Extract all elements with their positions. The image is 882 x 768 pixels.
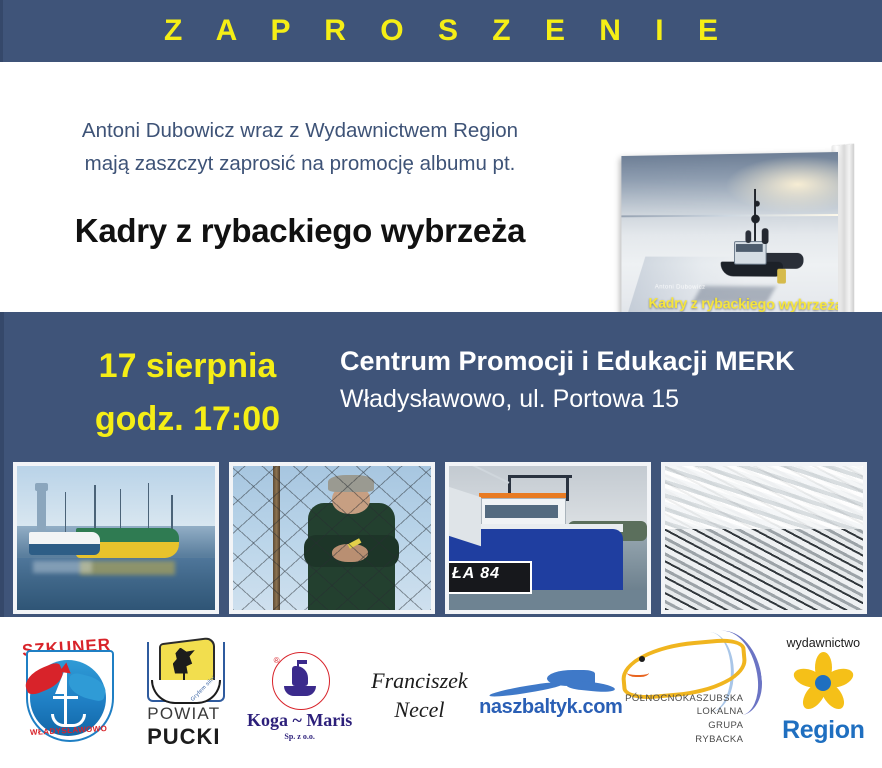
- necel-line-1: Franciszek: [356, 666, 482, 696]
- logo-franciszek-necel[interactable]: Franciszek Necel: [356, 634, 479, 752]
- cover-author: Antoni Dubowicz: [655, 283, 706, 290]
- event-details-section: 17 sierpnia godz. 17:00 Centrum Promocji…: [0, 312, 882, 617]
- cutter-registration-text: ŁA 84: [452, 565, 500, 583]
- cover-title: Kadry z rybackiego wybrzeża: [648, 295, 813, 314]
- flower-center-icon: [815, 675, 831, 691]
- event-date: 17 sierpnia: [55, 340, 320, 393]
- intro-line-2: mają zaszczyt zaprosić na promocję album…: [30, 147, 570, 180]
- cutter-registration-plate: ŁA 84: [445, 561, 532, 594]
- koga-hull: [284, 686, 316, 696]
- intro-text: Antoni Dubowicz wraz z Wydawnictwem Regi…: [30, 114, 570, 180]
- region-line-2: Region: [761, 716, 882, 745]
- necel-line-2: Necel: [356, 695, 482, 725]
- event-venue-block: Centrum Promocji i Edukacji MERK Władysł…: [340, 342, 795, 417]
- logo-szkuner[interactable]: SZKUNER WŁADYSŁAWOWO: [8, 634, 125, 752]
- region-line-1: wydawnictwo: [761, 636, 882, 650]
- plgr-line-4: RYBACKA: [615, 733, 743, 747]
- koga-registered-mark: ®: [274, 656, 280, 665]
- boat-rig-lower: [751, 214, 760, 223]
- koga-line-2: Sp. z o.o.: [240, 732, 360, 741]
- harbour-mast-3: [120, 489, 122, 534]
- harbour-sky: [17, 466, 215, 526]
- plgr-line-2: LOKALNA: [615, 705, 743, 719]
- pucki-line-1: POWIAT: [139, 704, 229, 724]
- info-left-edge: [0, 312, 4, 617]
- sponsor-logo-bar: SZKUNER WŁADYSŁAWOWO Gryfem silni POWIAT…: [0, 617, 882, 768]
- venue-name: Centrum Promocji i Edukacji MERK: [340, 342, 795, 381]
- event-time: godz. 17:00: [55, 393, 320, 446]
- ice-texture: [665, 466, 863, 529]
- cutter-cabin-windows: [485, 505, 558, 518]
- harbour-white-boat-hull: [29, 544, 100, 556]
- naszbaltyk-wave-icon: [489, 668, 613, 696]
- album-title: Kadry z rybackiego wybrzeża: [30, 212, 570, 250]
- plgr-line-1: PÓŁNOCNOKASZUBSKA: [615, 692, 743, 706]
- photo-fisherman-net: [229, 462, 435, 614]
- photo-harbour-boats: [13, 462, 219, 614]
- harbour-yellow-reflection: [80, 561, 175, 575]
- necel-text: Franciszek Necel: [356, 666, 482, 725]
- photo-fish-catch: [661, 462, 867, 614]
- plgr-line-3: GRUPA: [615, 719, 743, 733]
- plgr-fish-eye-icon: [639, 656, 645, 662]
- szkuner-anchor-icon: [64, 692, 67, 724]
- header-band: Z A P R O S Z E N I E: [0, 0, 882, 62]
- cutter-crane-beam: [508, 475, 571, 478]
- harbour-mast-1: [65, 492, 67, 535]
- plgr-text: PÓŁNOCNOKASZUBSKA LOKALNA GRUPA RYBACKA: [615, 692, 743, 747]
- koga-line-1: Koga ~ Maris: [240, 710, 360, 731]
- boat-buoy: [778, 269, 787, 284]
- cover-boat-icon: [714, 220, 815, 295]
- harbour-mast-4: [148, 483, 150, 533]
- invitation-poster: Z A P R O S Z E N I E Antoni Dubowicz wr…: [0, 0, 882, 768]
- boat-window: [736, 244, 762, 251]
- wave-stroke-3: [567, 679, 616, 693]
- fishing-net-overlay: [233, 466, 431, 610]
- venue-address: Władysławowo, ul. Portowa 15: [340, 381, 795, 417]
- logo-koga-maris[interactable]: ® Koga ~ Maris Sp. z o.o.: [240, 634, 357, 752]
- cutter-bow: [449, 487, 481, 546]
- logo-plgr[interactable]: PÓŁNOCNOKASZUBSKA LOKALNA GRUPA RYBACKA: [615, 632, 761, 754]
- boat-figure-2: [761, 228, 768, 244]
- logo-powiat-pucki[interactable]: Gryfem silni POWIAT PUCKI: [125, 634, 240, 752]
- koga-flag: [299, 660, 307, 664]
- event-date-block: 17 sierpnia godz. 17:00: [55, 340, 320, 445]
- intro-line-1: Antoni Dubowicz wraz z Wydawnictwem Regi…: [30, 114, 570, 147]
- intro-section: Antoni Dubowicz wraz z Wydawnictwem Regi…: [0, 62, 882, 312]
- page-title: Z A P R O S Z E N I E: [151, 16, 731, 46]
- harbour-white-reflection: [33, 561, 92, 573]
- photo-blue-cutter: ŁA 84: [445, 462, 651, 614]
- pucki-line-2: PUCKI: [139, 724, 229, 750]
- logo-naszbaltyk[interactable]: naszbaltyk.com: [479, 634, 615, 752]
- plgr-fish-mouth-icon: [627, 666, 649, 677]
- header-left-edge: [0, 0, 3, 62]
- boat-figure-1: [745, 230, 751, 243]
- koga-ship-icon: [284, 664, 316, 696]
- photo-strip: ŁA 84: [13, 462, 867, 614]
- logo-wydawnictwo-region[interactable]: wydawnictwo Region: [761, 632, 882, 754]
- koga-sail: [292, 666, 308, 686]
- region-flower-logo-icon: [792, 652, 854, 714]
- naszbaltyk-text: naszbaltyk.com: [479, 696, 619, 719]
- cutter-crane-right: [566, 475, 569, 501]
- harbour-mast-2: [94, 485, 96, 534]
